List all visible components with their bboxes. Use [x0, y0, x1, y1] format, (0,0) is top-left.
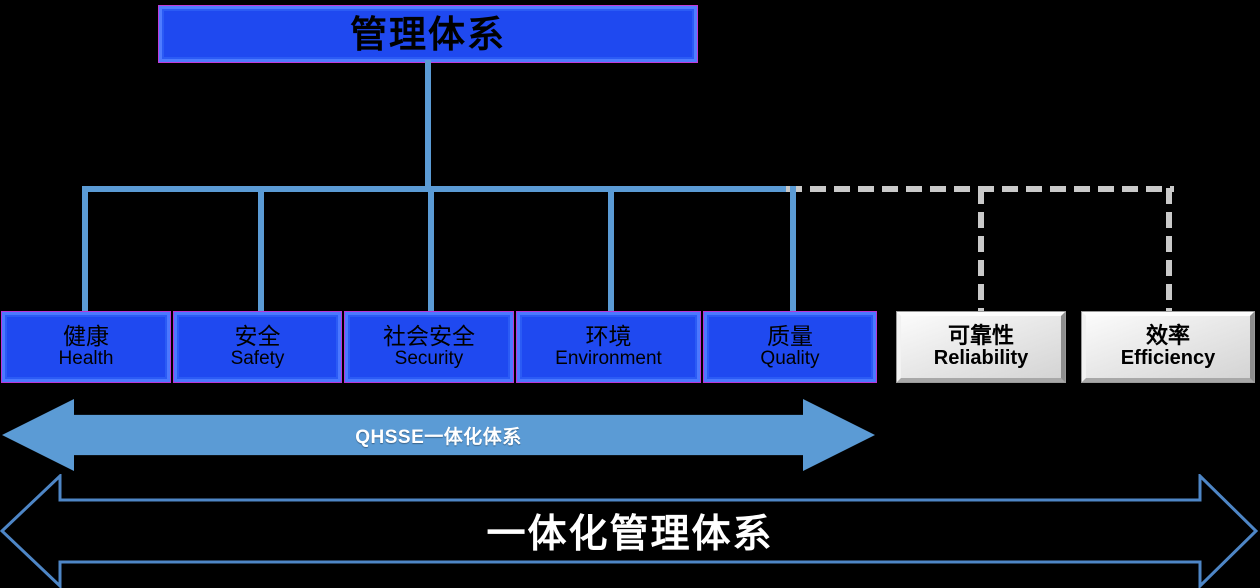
title-box-label: 管理体系: [350, 16, 506, 53]
pillar-label-cn: 健康: [63, 324, 109, 348]
title-box-management-system[interactable]: 管理体系: [159, 6, 697, 62]
pillar-label-en: Safety: [231, 348, 285, 370]
pillar-box-quality[interactable]: 质量Quality: [704, 312, 876, 382]
pillar-label-en: Security: [395, 348, 464, 370]
bottom-arrow-label: 一体化管理体系: [0, 474, 1260, 588]
pillar-box-efficiency[interactable]: 效率Efficiency: [1082, 312, 1254, 382]
connector-drop-1: [258, 186, 264, 314]
pillar-box-reliability[interactable]: 可靠性Reliability: [897, 312, 1065, 382]
pillar-box-health[interactable]: 健康Health: [2, 312, 170, 382]
connector-horizontal-bus: [82, 186, 792, 192]
pillar-label-cn: 可靠性: [948, 324, 1014, 347]
connector-dashed-drop-0: [978, 188, 984, 314]
pillar-label-cn: 安全: [235, 324, 281, 348]
integrated-management-arrow[interactable]: 一体化管理体系: [0, 474, 1260, 588]
pillar-label-cn: 质量: [767, 324, 813, 348]
connector-drop-3: [608, 186, 614, 314]
connector-drop-4: [790, 186, 796, 314]
pillar-label-en: Efficiency: [1121, 347, 1215, 370]
diagram-canvas: 管理体系 健康Health安全Safety社会安全Security环境Envir…: [0, 0, 1260, 588]
qhsse-integration-arrow[interactable]: QHSSE一体化体系: [2, 399, 875, 471]
qhsse-arrow-label: QHSSE一体化体系: [355, 422, 522, 449]
pillar-label-cn: 社会安全: [383, 324, 475, 348]
pillar-label-en: Reliability: [934, 347, 1028, 370]
connector-drop-2: [428, 186, 434, 314]
pillar-box-group: 健康Health安全Safety社会安全Security环境Environmen…: [0, 312, 1260, 382]
connector-vertical-from-title: [425, 60, 431, 188]
pillar-box-environment[interactable]: 环境Environment: [517, 312, 700, 382]
connector-drop-0: [82, 186, 88, 314]
connector-dashed-drop-1: [1166, 188, 1172, 314]
pillar-label-en: Quality: [760, 348, 819, 370]
pillar-label-cn: 效率: [1146, 324, 1190, 347]
pillar-box-safety[interactable]: 安全Safety: [174, 312, 341, 382]
pillar-label-en: Health: [59, 348, 114, 370]
pillar-label-en: Environment: [555, 348, 662, 370]
pillar-label-cn: 环境: [586, 324, 632, 348]
pillar-box-security[interactable]: 社会安全Security: [345, 312, 513, 382]
